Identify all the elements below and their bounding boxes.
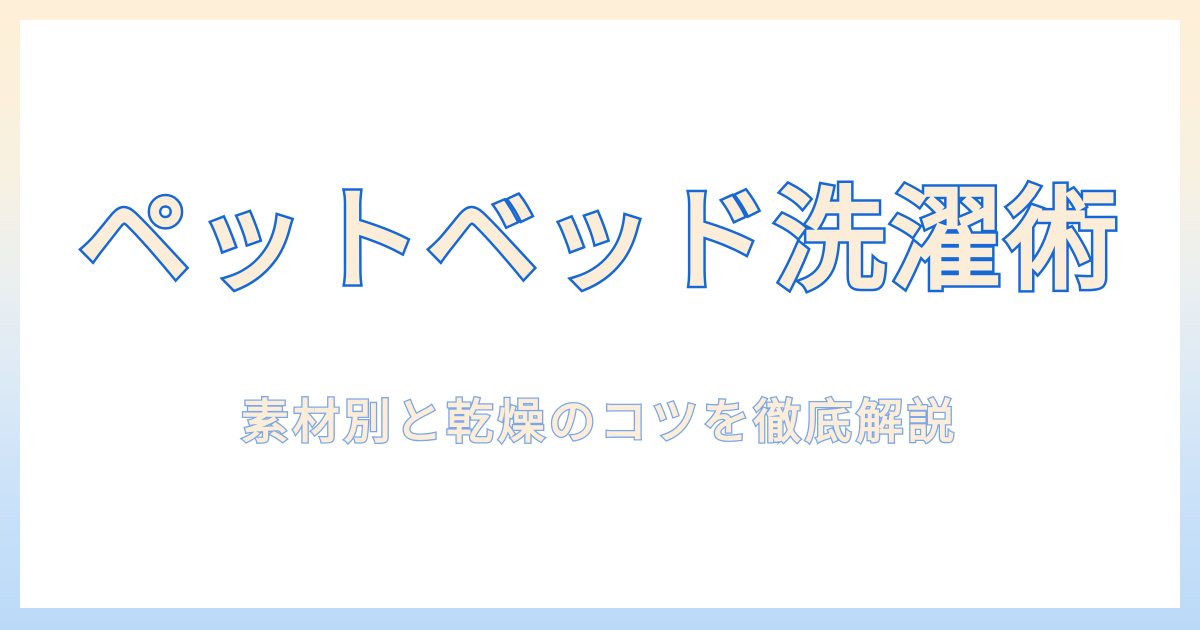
page-title: ペットベッド洗濯術 — [20, 175, 1180, 307]
title-block: ペットベッド洗濯術 — [20, 175, 1180, 307]
ogp-title-card: ペットベッド洗濯術 素材別と乾燥のコツを徹底解説 — [0, 0, 1200, 630]
card-canvas: ペットベッド洗濯術 素材別と乾燥のコツを徹底解説 — [20, 20, 1180, 608]
page-subtitle: 素材別と乾燥のコツを徹底解説 — [20, 392, 1180, 453]
subtitle-block: 素材別と乾燥のコツを徹底解説 — [20, 392, 1180, 453]
